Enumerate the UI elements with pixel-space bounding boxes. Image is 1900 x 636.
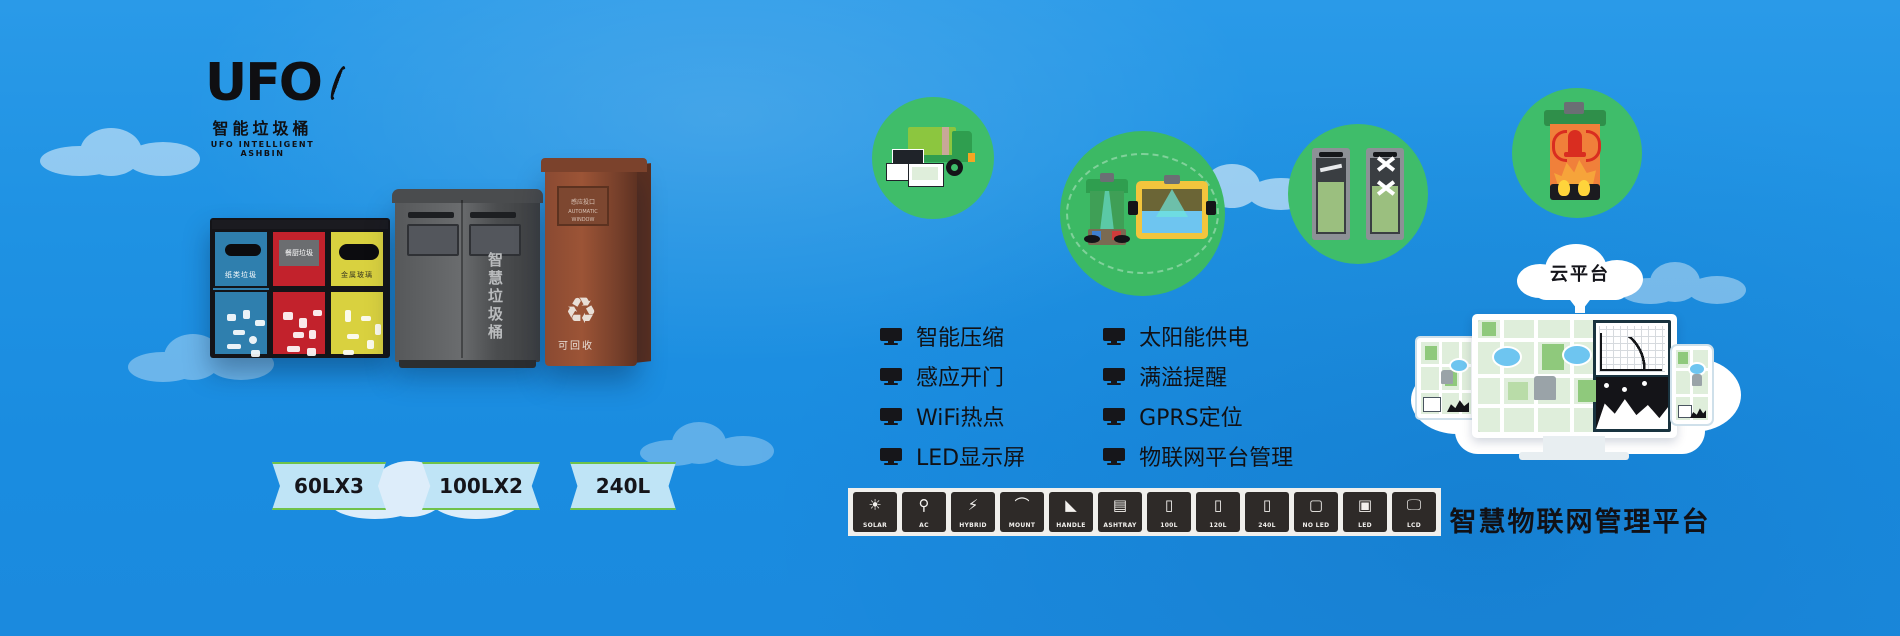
feature-column-left: 智能压缩 感应开门 WiFi热点 LED显示屏 — [880, 322, 1025, 470]
bin-fire-alarm-icon — [1512, 88, 1642, 218]
tablet-screen — [1421, 342, 1471, 414]
monitor-icon — [880, 448, 902, 465]
feature-label: 感应开门 — [916, 360, 1004, 392]
feature-label: 满溢提醒 — [1139, 360, 1227, 392]
option-label: HANDLE — [1056, 522, 1085, 529]
feature-item: 太阳能供电 — [1103, 322, 1293, 350]
option-solar[interactable]: ☀SOLAR — [853, 492, 897, 532]
feature-item: 满溢提醒 — [1103, 362, 1293, 390]
option-ac[interactable]: ⚲AC — [902, 492, 946, 532]
option-label: 240L — [1258, 522, 1276, 529]
monitor-icon — [880, 368, 902, 385]
option-100l[interactable]: ▯100L — [1147, 492, 1191, 532]
desktop-monitor — [1472, 314, 1677, 438]
map-panel — [1478, 320, 1593, 432]
feature-item: 智能压缩 — [880, 322, 1025, 350]
bin-screen-text-cn: 感应投口 — [559, 199, 607, 207]
option-label: SOLAR — [863, 522, 887, 529]
option-mount[interactable]: ⌒MOUNT — [1000, 492, 1044, 532]
logo-name-cn: 智能垃圾桶 — [205, 115, 320, 139]
product-brown-bin: 感应投口 AUTOMATIC WINDOW ♻ 可回收 — [545, 166, 637, 366]
feature-label: 物联网平台管理 — [1139, 440, 1293, 472]
recycle-icon: ♻ — [559, 292, 603, 332]
highlight-circle-compaction — [1288, 124, 1428, 264]
banner-canvas: UFO 智能垃圾桶 UFO INTELLIGENT ASHBIN 纸类垃圾 餐厨… — [0, 0, 1900, 636]
monitor-icon — [1103, 448, 1125, 465]
capacity-label-60lx3: 60LX3 — [272, 462, 386, 510]
feature-item: GPRS定位 — [1103, 402, 1293, 430]
down-arrow-icon — [1567, 296, 1593, 313]
option-label: AC — [919, 522, 929, 529]
option-label: NO LED — [1303, 522, 1330, 529]
compartment-label: 纸类垃圾 — [215, 270, 267, 280]
wall-mount-icon: ⌒ — [1000, 492, 1044, 517]
bin-screen: 感应投口 AUTOMATIC WINDOW — [557, 186, 609, 226]
area-chart — [1596, 377, 1668, 429]
cloud-platform-badge: 云平台 — [1517, 240, 1643, 302]
option-no-led[interactable]: ▢NO LED — [1294, 492, 1338, 532]
garbage-truck-with-devices-icon — [872, 97, 994, 219]
bin-side-text: 智慧垃圾桶 — [485, 252, 506, 342]
phone-screen — [1676, 350, 1708, 420]
cloud-decoration-6 — [640, 420, 780, 468]
monitor-icon — [880, 408, 902, 425]
feature-column-right: 太阳能供电 满溢提醒 GPRS定位 物联网平台管理 — [1103, 322, 1293, 470]
bin-fill-level-sensor-icon — [1060, 131, 1225, 296]
feature-item: WiFi热点 — [880, 402, 1025, 430]
feature-label: 太阳能供电 — [1139, 320, 1249, 352]
feature-item: 感应开门 — [880, 362, 1025, 390]
product-gray-bin: 智慧垃圾桶 — [395, 196, 540, 362]
bin-compartment-paper: 纸类垃圾 — [213, 230, 269, 356]
twin-compacting-bins-icon — [1288, 124, 1428, 264]
feature-label: 智能压缩 — [916, 320, 1004, 352]
option-ashtray[interactable]: ▤ASHTRAY — [1098, 492, 1142, 532]
handle-icon: ◣ — [1049, 492, 1093, 517]
no-led-icon: ▢ — [1294, 492, 1338, 517]
power-plug-icon: ⚲ — [902, 492, 946, 517]
product-triple-bin: 纸类垃圾 餐厨垃圾 金属玻璃 — [210, 218, 390, 358]
bin-compartment-metal-glass: 金属玻璃 — [329, 230, 385, 356]
capacity-label-240l: 240L — [570, 462, 676, 510]
bin-240l-icon: ▯ — [1245, 492, 1289, 517]
litter-graphic — [279, 304, 319, 346]
option-label: MOUNT — [1009, 522, 1036, 529]
led-strip-icon — [408, 212, 454, 218]
led-strip-icon — [470, 212, 516, 218]
option-label: 120L — [1209, 522, 1227, 529]
bin-slot-icon — [225, 244, 261, 256]
bin-120l-icon: ▯ — [1196, 492, 1240, 517]
hybrid-bolt-icon: ⚡ — [951, 492, 995, 517]
feature-label: WiFi热点 — [916, 400, 1005, 432]
logo-wordmark: UFO — [205, 57, 321, 109]
litter-graphic — [337, 304, 377, 346]
analytics-panel — [1593, 320, 1671, 432]
litter-graphic — [221, 304, 261, 346]
option-label: LED — [1358, 522, 1372, 529]
monitor-icon — [1103, 328, 1125, 345]
brand-logo: UFO 智能垃圾桶 UFO INTELLIGENT ASHBIN — [205, 52, 320, 150]
bin-slot-icon — [339, 244, 379, 260]
bin-compartment-kitchen: 餐厨垃圾 — [271, 230, 327, 356]
iot-platform-illustration: 云平台 — [1415, 240, 1745, 470]
highlight-circle-collection-truck — [872, 97, 994, 219]
tablet-device — [1415, 336, 1477, 420]
option-label: ASHTRAY — [1103, 522, 1136, 529]
cloud-decoration-1 — [40, 120, 210, 180]
feature-label: LED显示屏 — [916, 440, 1025, 472]
option-hybrid[interactable]: ⚡HYBRID — [951, 492, 995, 532]
cloud-platform-label: 云平台 — [1517, 260, 1643, 286]
option-icon-strip: ☀SOLAR ⚲AC ⚡HYBRID ⌒MOUNT ◣HANDLE ▤ASHTR… — [848, 488, 1441, 536]
bin-screen — [407, 224, 459, 256]
ashtray-icon: ▤ — [1098, 492, 1142, 517]
option-handle[interactable]: ◣HANDLE — [1049, 492, 1093, 532]
feature-label: GPRS定位 — [1139, 400, 1243, 432]
platform-caption: 智慧物联网管理平台 — [1415, 500, 1745, 539]
logo-mark: UFO — [205, 52, 320, 114]
highlight-circle-fill-level — [1060, 131, 1225, 296]
monitor-icon — [1103, 368, 1125, 385]
option-label: 100L — [1160, 522, 1178, 529]
feature-item: 物联网平台管理 — [1103, 442, 1293, 470]
led-panel-icon: ▣ — [1343, 492, 1387, 517]
highlight-circle-fire-alarm — [1512, 88, 1642, 218]
option-label: HYBRID — [959, 522, 987, 529]
option-120l[interactable]: ▯120L — [1196, 492, 1240, 532]
feature-item: LED显示屏 — [880, 442, 1025, 470]
bin-screen-text-en: AUTOMATIC WINDOW — [559, 208, 607, 224]
logo-name-en: UFO INTELLIGENT ASHBIN — [205, 140, 320, 158]
monitor-base — [1519, 452, 1629, 460]
feature-list: 智能压缩 感应开门 WiFi热点 LED显示屏 太阳能供电 满溢提醒 GPRS定… — [880, 322, 1293, 470]
monitor-screen — [1478, 320, 1671, 432]
sun-icon: ☀ — [853, 492, 897, 517]
capacity-label-100lx2: 100LX2 — [422, 462, 540, 510]
option-led[interactable]: ▣LED — [1343, 492, 1387, 532]
line-chart — [1596, 323, 1668, 375]
smartphone-device — [1670, 344, 1714, 426]
bin-100l-icon: ▯ — [1147, 492, 1191, 517]
monitor-icon — [880, 328, 902, 345]
monitor-icon — [1103, 408, 1125, 425]
bin-recycle-label: 可回收 — [545, 337, 607, 352]
compartment-label: 金属玻璃 — [331, 270, 383, 280]
option-240l[interactable]: ▯240L — [1245, 492, 1289, 532]
compartment-label: 餐厨垃圾 — [279, 240, 319, 266]
